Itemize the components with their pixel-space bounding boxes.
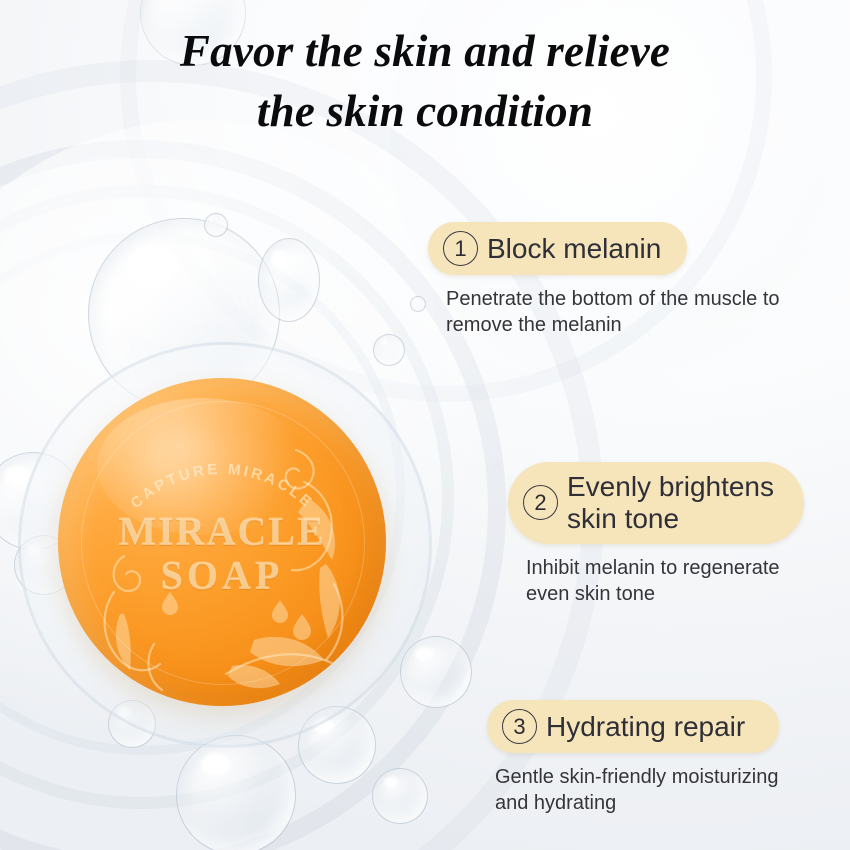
- soap-brand-line2: SOAP: [58, 552, 386, 599]
- bubble-icon: [373, 334, 405, 366]
- feature-item-2: 2 Evenly brightens skin tone Inhibit mel…: [508, 462, 804, 608]
- feature-item-1: 1 Block melanin Penetrate the bottom of …: [428, 222, 780, 339]
- feature-2-title: Evenly brightens skin tone: [567, 471, 774, 535]
- headline-line-2: the skin condition: [0, 82, 850, 142]
- soap-ornament-droplet: [293, 614, 311, 640]
- bubble-icon: [372, 768, 428, 824]
- bubble-icon: [176, 735, 296, 850]
- soap-ornament-leaf: [116, 614, 131, 670]
- headline-line-1: Favor the skin and relieve: [180, 26, 670, 76]
- bubble-icon: [410, 296, 426, 312]
- soap-arc-text: CAPTURE MIRACLE: [127, 461, 316, 512]
- feature-2-description: Inhibit melanin to regenerate even skin …: [526, 555, 804, 608]
- feature-3-pill[interactable]: 3 Hydrating repair: [487, 700, 779, 753]
- bubble-icon: [204, 213, 228, 237]
- feature-1-number-badge: 1: [443, 231, 478, 266]
- soap-ornament-droplet: [272, 600, 288, 623]
- feature-2-number-badge: 2: [523, 485, 558, 520]
- feature-2-pill[interactable]: 2 Evenly brightens skin tone: [508, 462, 804, 544]
- page-title: Favor the skin and relieve the skin cond…: [0, 22, 850, 142]
- feature-1-description: Penetrate the bottom of the muscle to re…: [446, 286, 780, 339]
- feature-3-description: Gentle skin-friendly moisturizing and hy…: [495, 764, 779, 817]
- soap-ornament-leaf: [250, 637, 324, 666]
- bubble-icon: [400, 636, 472, 708]
- feature-3-title: Hydrating repair: [546, 711, 745, 743]
- feature-item-3: 3 Hydrating repair Gentle skin-friendly …: [487, 700, 779, 817]
- bubble-icon: [258, 238, 320, 322]
- soap-ornament-swirl: [105, 592, 160, 670]
- product-image-soap-bar: CAPTURE MIRACLE: [52, 372, 392, 712]
- feature-1-pill[interactable]: 1 Block melanin: [428, 222, 687, 275]
- product-feature-panel: CAPTURE MIRACLE: [0, 0, 850, 850]
- soap-bar: CAPTURE MIRACLE: [58, 378, 386, 706]
- feature-3-number-badge: 3: [502, 709, 537, 744]
- feature-1-title: Block melanin: [487, 233, 661, 265]
- soap-brand-line1: MIRACLE: [58, 508, 386, 555]
